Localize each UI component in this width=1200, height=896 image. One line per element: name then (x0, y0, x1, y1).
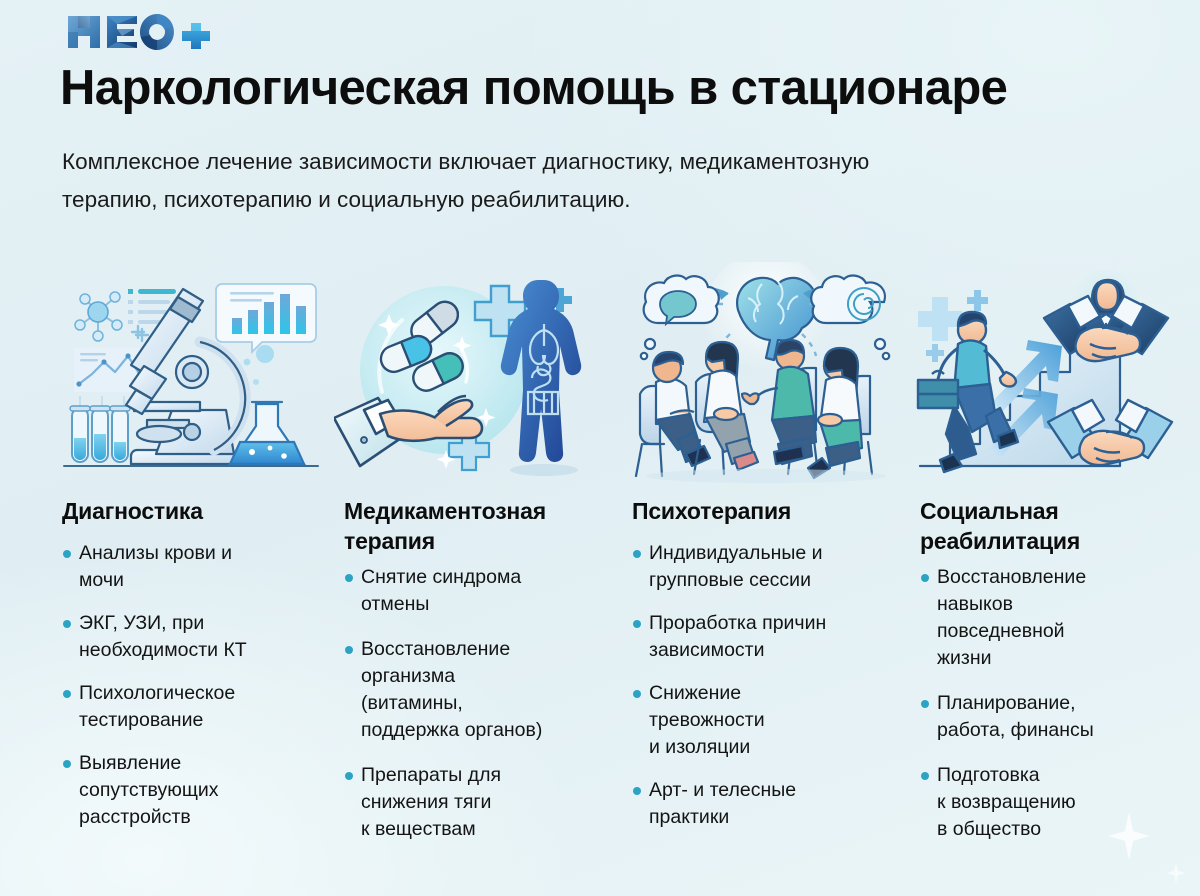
list-item: Снятие синдрома отмены (334, 564, 622, 618)
social-rehabilitation-illustration (910, 262, 1192, 484)
list-item: Арт- и телесные практики (622, 777, 910, 831)
group-therapy-illustration (622, 262, 910, 484)
section-bullet-list: Индивидуальные и групповые сессии Прораб… (622, 540, 910, 831)
list-item: Анализы крови и мочи (52, 540, 334, 594)
laboratory-diagnostics-illustration (52, 262, 334, 484)
list-item: Подготовка к возвращению в общество (910, 762, 1192, 843)
list-item: Проработка причин зависимости (622, 610, 910, 664)
list-item: Восстановление навыков повседневной жизн… (910, 564, 1192, 672)
list-item: Препараты для снижения тяги к веществам (334, 762, 622, 843)
list-item: Планирование, работа, финансы (910, 690, 1192, 744)
section-bullet-list: Восстановление навыков повседневной жизн… (910, 564, 1192, 843)
list-item: Выявление сопутствующих расстройств (52, 750, 334, 831)
section-heading: Медикаментозная терапия (334, 496, 622, 556)
section-medication-therapy: Медикаментозная терапия Снятие синдрома … (334, 262, 622, 861)
section-heading: Диагностика (52, 496, 334, 526)
section-diagnostics: Диагностика Анализы крови и мочи ЭКГ, УЗ… (52, 262, 334, 847)
sparkle-decor-small-icon (1166, 862, 1186, 884)
page-title: Наркологическая помощь в стационаре (60, 58, 1170, 118)
list-item: Восстановление организма (витамины, подд… (334, 636, 622, 744)
list-item: ЭКГ, УЗИ, при необходимости КТ (52, 610, 334, 664)
neo-plus-logo-icon (62, 10, 212, 54)
list-item: Индивидуальные и групповые сессии (622, 540, 910, 594)
stairs-handshake-icon (910, 262, 1192, 484)
group-circle-brain-icon (622, 262, 910, 484)
microscope-lab-icon (52, 262, 334, 484)
section-heading: Психотерапия (622, 496, 910, 526)
section-social-rehabilitation: Социальная реабилитация Восстановление н… (910, 262, 1192, 861)
infographic-page: Наркологическая помощь в стационаре Комп… (0, 0, 1200, 896)
list-item: Снижение тревожности и изоляции (622, 680, 910, 761)
page-subtitle: Комплексное лечение зависимости включает… (62, 143, 962, 219)
section-heading: Социальная реабилитация (910, 496, 1192, 556)
section-psychotherapy: Психотерапия Индивидуальные и групповые … (622, 262, 910, 847)
section-bullet-list: Анализы крови и мочи ЭКГ, УЗИ, при необх… (52, 540, 334, 831)
brand-logo (62, 10, 212, 54)
hand-pills-body-icon (334, 262, 622, 484)
section-bullet-list: Снятие синдрома отмены Восстановление ор… (334, 564, 622, 843)
medication-therapy-illustration (334, 262, 622, 484)
list-item: Психологическое тестирование (52, 680, 334, 734)
